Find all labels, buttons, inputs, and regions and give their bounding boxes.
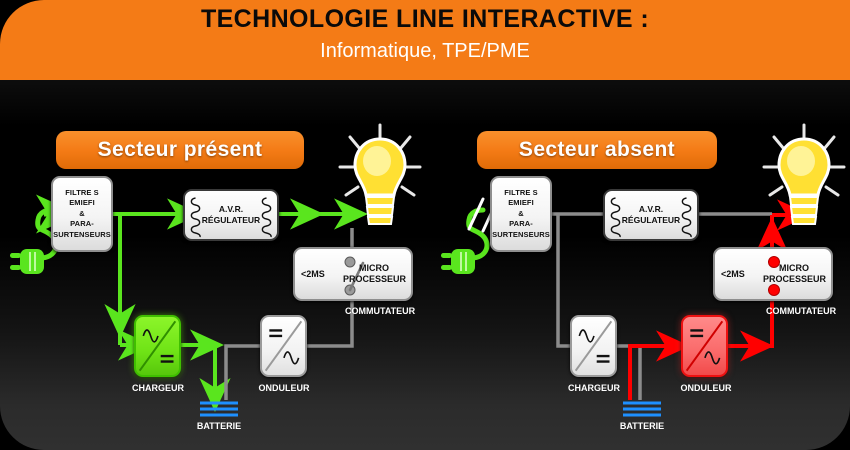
banner-label-left: Secteur présent: [98, 138, 263, 162]
section-banner-mains-absent: Secteur absent: [477, 131, 717, 169]
converter-symbol-right-chargeur: [572, 317, 615, 375]
power-plug-icon-left: [6, 239, 52, 283]
diagram-root: TECHNOLOGIE LINE INTERACTIVE : Informati…: [0, 0, 850, 450]
light-bulb-icon-right: [760, 123, 848, 235]
filter-line-4: PARA-: [492, 219, 550, 230]
mp-line-1: MICRO: [763, 263, 825, 274]
converter-symbol-left-chargeur: [136, 317, 179, 375]
chargeur-box-right: [570, 315, 617, 377]
onduleur-box-right: [681, 315, 728, 377]
filter-line-5: SURTENSEURS: [492, 230, 550, 241]
switch-delay-label-left: <2MS: [301, 269, 325, 279]
section-banner-mains-present: Secteur présent: [56, 131, 304, 169]
coil-icon-right: [260, 196, 273, 238]
chargeur-caption-left: CHARGEUR: [131, 383, 185, 393]
filter-line-1: FILTRE S: [53, 188, 111, 199]
wire-battery-to-onduleur-left: [226, 346, 260, 400]
mp-line-2: PROCESSEUR: [763, 274, 825, 285]
switch-delay-label-right: <2MS: [721, 269, 745, 279]
filter-line-1: FILTRE S: [492, 188, 550, 199]
power-plug-icon-right: [437, 239, 483, 283]
filter-box-left: FILTRE S EMIEFI & PARA- SURTENSEURS: [51, 176, 113, 252]
battery-icon-right: [621, 400, 663, 420]
mp-line-1: MICRO: [343, 263, 405, 274]
onduleur-box-left: [260, 315, 307, 377]
header-banner: TECHNOLOGIE LINE INTERACTIVE : Informati…: [0, 0, 850, 80]
filter-line-3: &: [492, 209, 550, 220]
filter-line-5: SURTENSEURS: [53, 230, 111, 241]
filter-line-3: &: [53, 209, 111, 220]
wire-battery-to-onduleur-right: [630, 346, 681, 400]
filter-line-2: EMIEFI: [53, 198, 111, 209]
avr-box-right: A.V.R. RÉGULATEUR: [603, 189, 699, 241]
battery-caption-right: BATTERIE: [608, 421, 676, 431]
microprocessor-label-left: MICRO PROCESSEUR: [343, 263, 405, 285]
filter-box-right: FILTRE S EMIEFI & PARA- SURTENSEURS: [490, 176, 552, 252]
onduleur-caption-right: ONDULEUR: [678, 383, 734, 393]
chargeur-box-left: [134, 315, 181, 377]
commutateur-box-left: <2MS MICRO PROCESSEUR: [293, 247, 413, 301]
page-title: TECHNOLOGIE LINE INTERACTIVE :: [0, 5, 850, 34]
microprocessor-label-right: MICRO PROCESSEUR: [763, 263, 825, 285]
mp-line-2: PROCESSEUR: [343, 274, 405, 285]
avr-box-left: A.V.R. RÉGULATEUR: [183, 189, 279, 241]
converter-symbol-right-onduleur: [683, 317, 726, 375]
banner-label-right: Secteur absent: [519, 138, 675, 162]
light-bulb-icon-left: [336, 123, 424, 235]
page-subtitle: Informatique, TPE/PME: [0, 40, 850, 63]
commutateur-caption-right: COMMUTATEUR: [766, 306, 836, 316]
wire-chargeur-to-battery-left: [181, 345, 215, 400]
commutateur-box-right: <2MS MICRO PROCESSEUR: [713, 247, 833, 301]
wire-filter-down-right: [558, 214, 570, 346]
filter-line-4: PARA-: [53, 219, 111, 230]
battery-icon-left: [198, 400, 240, 420]
converter-symbol-left-onduleur: [262, 317, 305, 375]
chargeur-caption-right: CHARGEUR: [567, 383, 621, 393]
battery-caption-left: BATTERIE: [185, 421, 253, 431]
filter-line-2: EMIEFI: [492, 198, 550, 209]
coil-icon-right: [680, 196, 693, 238]
commutateur-caption-left: COMMUTATEUR: [345, 306, 415, 316]
onduleur-caption-left: ONDULEUR: [256, 383, 312, 393]
